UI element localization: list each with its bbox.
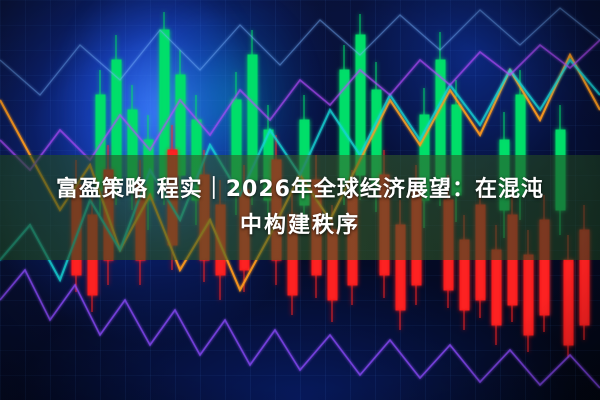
- title-line-1: 富盈策略 程实｜2026年全球经济展望：在混沌: [56, 172, 544, 208]
- blue-highlight-line: [0, 8, 600, 95]
- banner-image: 富盈策略 程实｜2026年全球经济展望：在混沌 中构建秩序: [0, 0, 600, 400]
- title-line-2: 中构建秩序: [240, 208, 360, 244]
- title-overlay-band: 富盈策略 程实｜2026年全球经济展望：在混沌 中构建秩序: [0, 155, 600, 260]
